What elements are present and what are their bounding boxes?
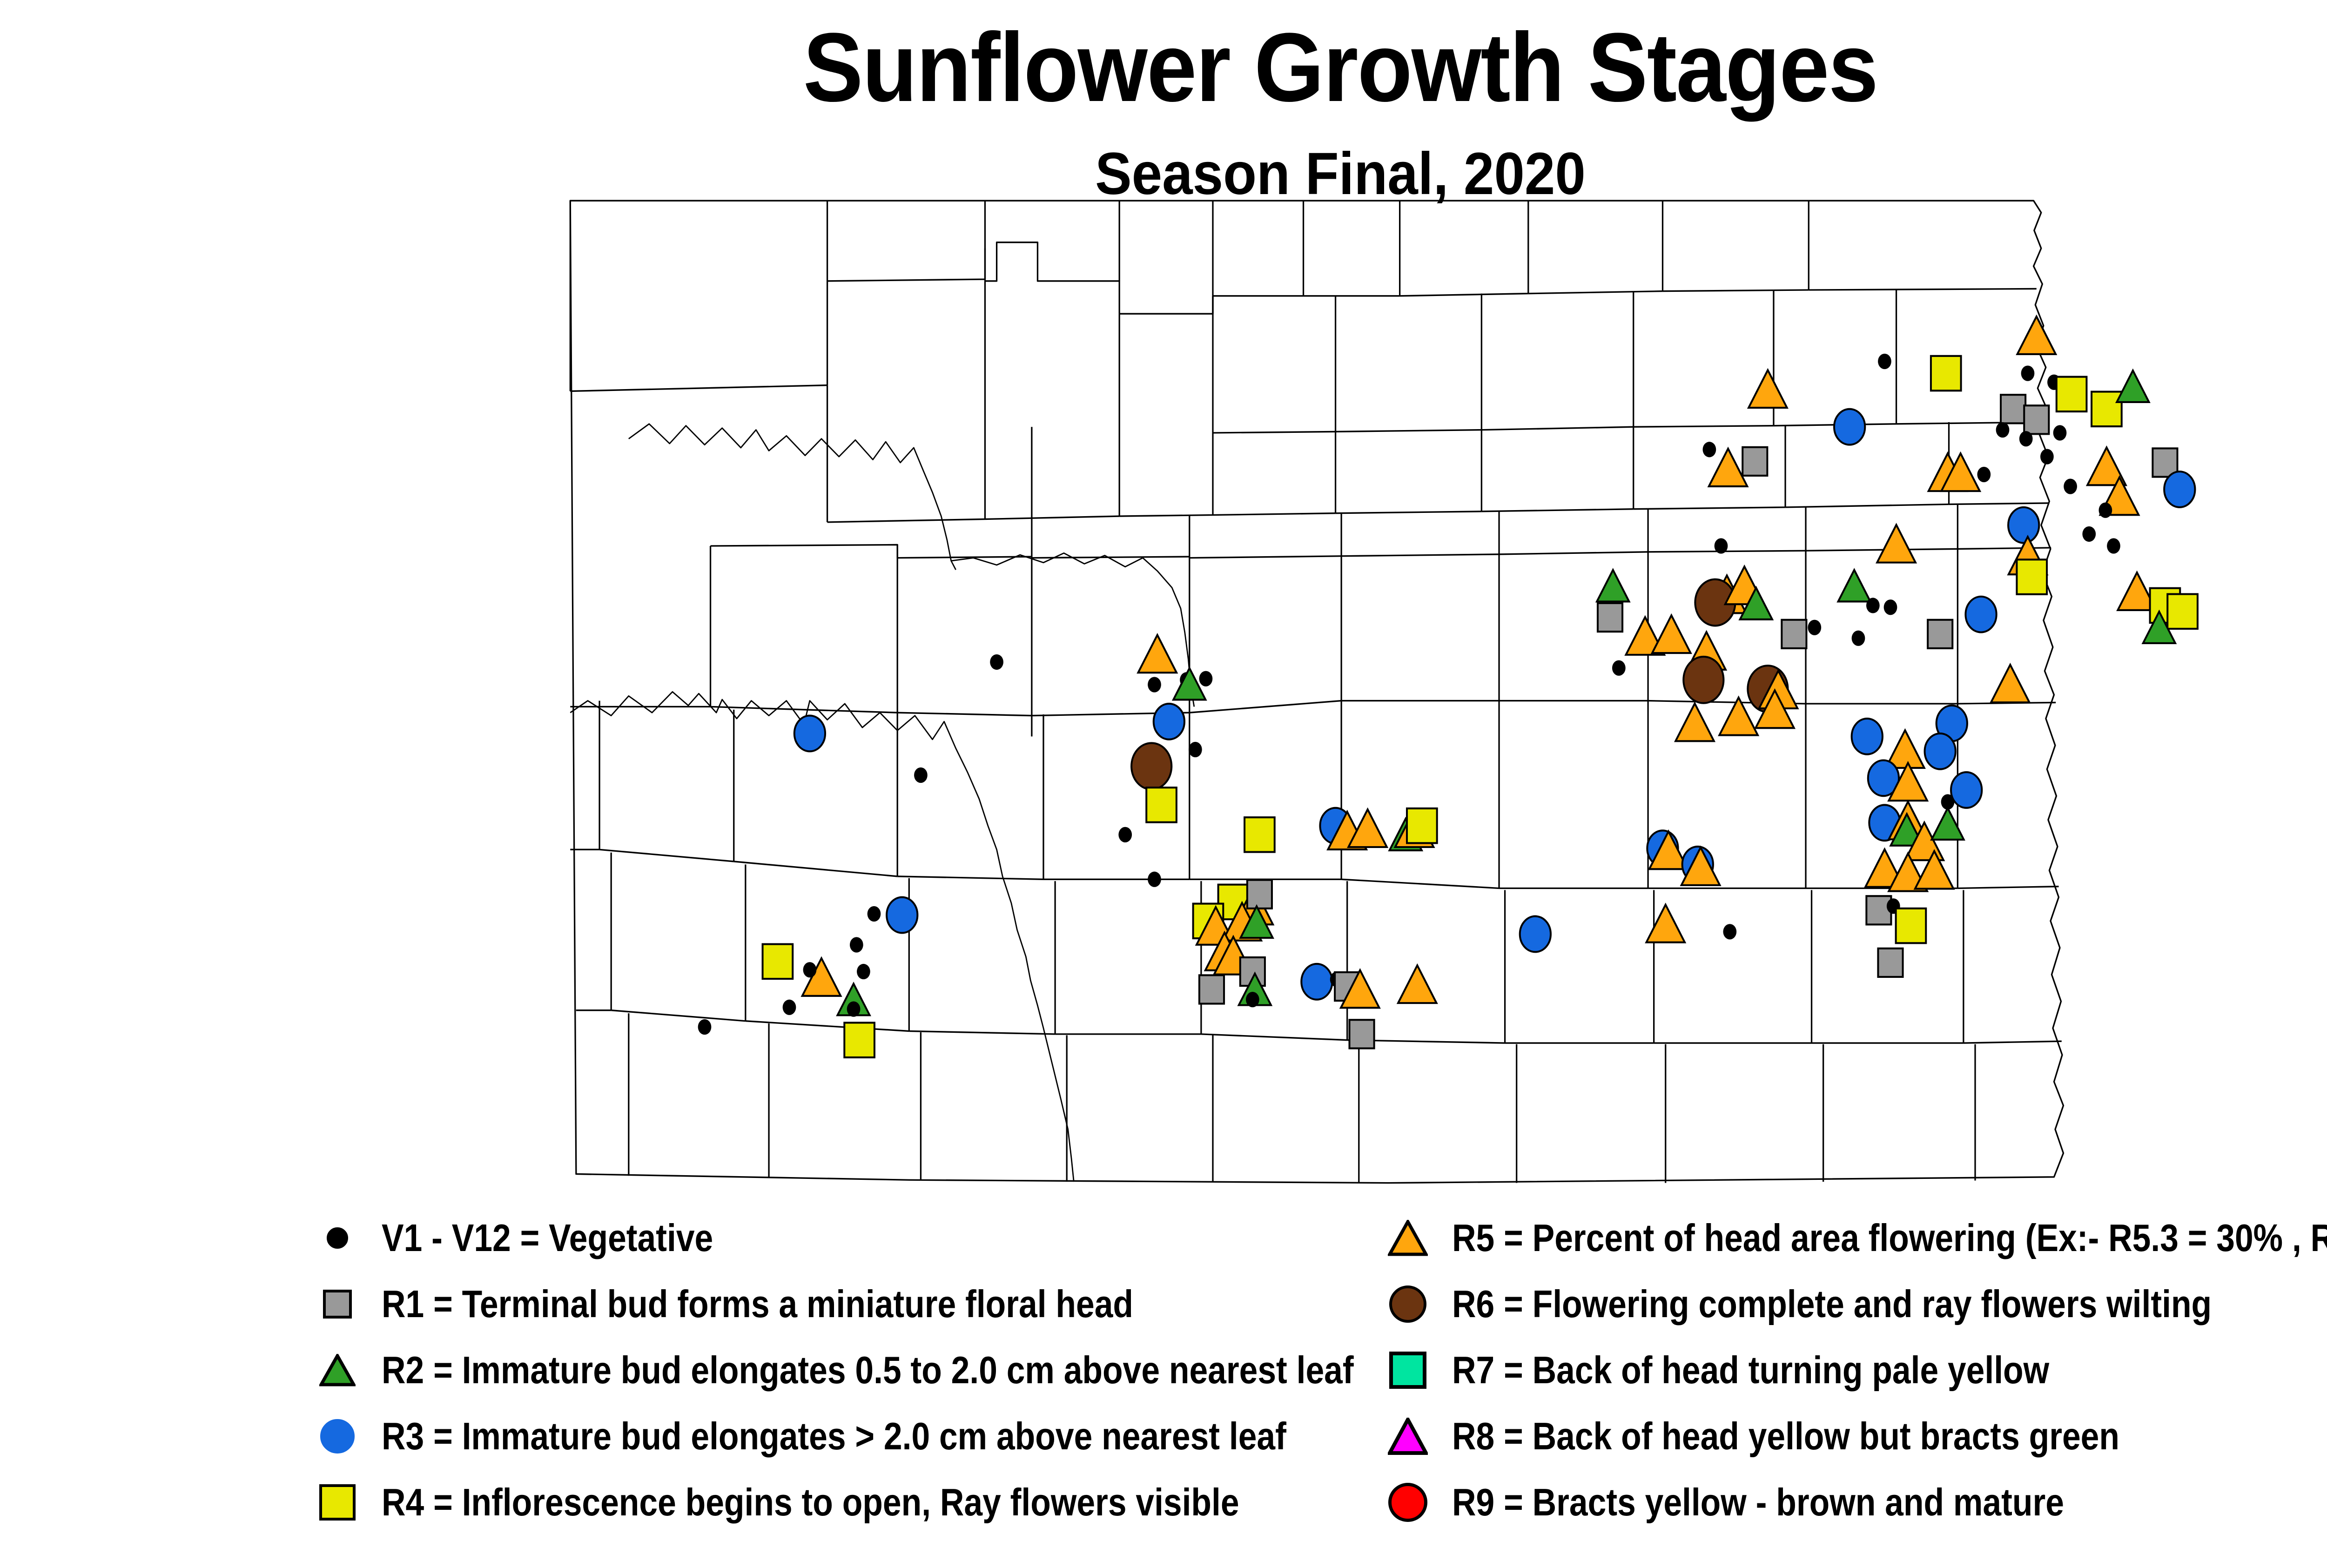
- map-marker-v[interactable]: [2053, 425, 2067, 440]
- map-marker-r2[interactable]: [1597, 570, 1629, 602]
- map-marker-r4[interactable]: [1244, 817, 1275, 852]
- map-marker-r4[interactable]: [2057, 377, 2087, 411]
- map-marker-r1[interactable]: [1598, 603, 1622, 632]
- map-marker-v[interactable]: [2082, 526, 2096, 542]
- map-marker-r3[interactable]: [1834, 409, 1865, 445]
- map-marker-v[interactable]: [857, 964, 870, 979]
- county-boundaries: [570, 201, 2063, 1183]
- map-marker-v[interactable]: [990, 654, 1003, 670]
- map-marker-r2[interactable]: [1838, 570, 1870, 602]
- map-marker-r6[interactable]: [1131, 743, 1171, 789]
- map-marker-r4[interactable]: [1407, 808, 1437, 843]
- map-marker-v[interactable]: [2040, 449, 2054, 464]
- map-marker-r1[interactable]: [1350, 1020, 1374, 1048]
- legend-label-r5: R5 = Percent of head area flowering (Ex:…: [1452, 1210, 2327, 1266]
- map-marker-v[interactable]: [1996, 422, 2010, 437]
- map-marker-r4[interactable]: [1931, 356, 1961, 390]
- legend-square-marker-r4: [307, 1474, 368, 1530]
- map-marker-r1[interactable]: [1782, 620, 1806, 648]
- map-marker-r4[interactable]: [2167, 594, 2198, 628]
- legend-label-r8: R8 = Back of head yellow but bracts gree…: [1452, 1408, 2119, 1464]
- map-marker-r5[interactable]: [1647, 905, 1685, 942]
- map-marker-v[interactable]: [803, 962, 817, 977]
- map-marker-r1[interactable]: [1247, 880, 1272, 908]
- triangle-icon: [319, 1354, 356, 1386]
- legend-label-r7: R7 = Back of head turning pale yellow: [1452, 1342, 2049, 1398]
- map-marker-v[interactable]: [1884, 599, 1897, 615]
- map-marker-r3[interactable]: [1951, 772, 1982, 808]
- map-marker-v[interactable]: [1118, 827, 1132, 842]
- legend-circle-marker-v: [307, 1210, 368, 1266]
- map-marker-v[interactable]: [1866, 598, 1880, 613]
- map-marker-v[interactable]: [1148, 677, 1161, 692]
- data-point-markers[interactable]: [698, 316, 2198, 1057]
- map-marker-v[interactable]: [1148, 872, 1161, 887]
- map-marker-v[interactable]: [1977, 467, 1991, 482]
- map-marker-r3[interactable]: [1965, 597, 1996, 633]
- map-marker-r1[interactable]: [1878, 949, 1903, 977]
- legend-triangle-marker-r5: [1378, 1210, 1438, 1266]
- triangle-icon: [1388, 1220, 1428, 1256]
- map-marker-v[interactable]: [1852, 631, 1865, 646]
- legend-item-r5[interactable]: R5 = Percent of head area flowering (Ex:…: [1378, 1210, 2327, 1276]
- map-marker-r3[interactable]: [1154, 704, 1184, 740]
- legend-circle-marker-r3: [307, 1408, 368, 1464]
- legend-item-r3[interactable]: R3 = Immature bud elongates > 2.0 cm abo…: [307, 1408, 1378, 1474]
- legend-circle-marker-r6: [1378, 1276, 1438, 1332]
- map-marker-r1[interactable]: [1199, 975, 1224, 1003]
- map-marker-r5[interactable]: [1675, 703, 1714, 741]
- map-marker-v[interactable]: [2099, 503, 2112, 518]
- map-marker-r3[interactable]: [1925, 734, 1956, 769]
- north-dakota-county-map[interactable]: [535, 177, 2229, 1201]
- legend-label-r3: R3 = Immature bud elongates > 2.0 cm abo…: [382, 1408, 1286, 1464]
- map-marker-r6[interactable]: [1683, 657, 1723, 703]
- map-marker-v[interactable]: [1703, 442, 1716, 457]
- map-marker-v[interactable]: [1878, 354, 1891, 369]
- map-marker-r3[interactable]: [1852, 719, 1883, 754]
- map-marker-r4[interactable]: [844, 1023, 874, 1057]
- map-marker-r5[interactable]: [2018, 316, 2056, 354]
- map-marker-v[interactable]: [1189, 742, 1202, 757]
- map-marker-v[interactable]: [850, 937, 863, 952]
- triangle-icon: [1388, 1418, 1428, 1455]
- map-marker-r3[interactable]: [887, 897, 917, 933]
- map-marker-r2[interactable]: [1931, 808, 1964, 840]
- legend-square-marker-r7: [1378, 1342, 1438, 1398]
- map-marker-v[interactable]: [1612, 660, 1626, 676]
- map-marker-r3[interactable]: [1520, 916, 1551, 952]
- legend-circle-marker-r9: [1378, 1474, 1438, 1530]
- legend-column-left: V1 - V12 = Vegetative R1 = Terminal bud …: [307, 1210, 1378, 1541]
- map-marker-r5[interactable]: [1991, 665, 2029, 702]
- map-marker-r1[interactable]: [1928, 620, 1952, 648]
- legend-label-r9: R9 = Bracts yellow - brown and mature: [1452, 1474, 2064, 1530]
- map-marker-r3[interactable]: [794, 716, 825, 752]
- map-marker-v[interactable]: [2021, 365, 2035, 381]
- map-marker-r5[interactable]: [1138, 635, 1177, 673]
- map-marker-v[interactable]: [1715, 538, 1728, 553]
- map-marker-v[interactable]: [1199, 671, 1213, 686]
- map-marker-r5[interactable]: [1709, 449, 1747, 486]
- legend-item-v[interactable]: V1 - V12 = Vegetative: [307, 1210, 1378, 1276]
- map-marker-r4[interactable]: [1146, 787, 1177, 822]
- map-marker-r4[interactable]: [763, 944, 793, 979]
- legend-item-r9[interactable]: R9 = Bracts yellow - brown and mature: [1378, 1474, 2327, 1541]
- legend-label-r1: R1 = Terminal bud forms a miniature flor…: [382, 1276, 1133, 1332]
- legend-label-r6: R6 = Flowering complete and ray flowers …: [1452, 1276, 2212, 1332]
- map-marker-v[interactable]: [1723, 924, 1736, 939]
- legend-item-r7[interactable]: R7 = Back of head turning pale yellow: [1378, 1342, 2327, 1408]
- map-marker-r1[interactable]: [1866, 896, 1891, 924]
- legend-square-marker-r1: [307, 1276, 368, 1332]
- map-marker-v[interactable]: [868, 906, 881, 922]
- legend-triangle-marker-r8: [1378, 1408, 1438, 1464]
- legend-item-r2[interactable]: R2 = Immature bud elongates 0.5 to 2.0 c…: [307, 1342, 1378, 1408]
- legend-label-r2: R2 = Immature bud elongates 0.5 to 2.0 c…: [382, 1342, 1354, 1398]
- map-marker-r3[interactable]: [2164, 471, 2195, 507]
- page-title: Sunflower Growth Stages: [107, 19, 2327, 116]
- map-marker-r4[interactable]: [1896, 908, 1926, 943]
- map-marker-v[interactable]: [914, 767, 928, 783]
- map-marker-r3[interactable]: [2008, 507, 2039, 543]
- map-marker-v[interactable]: [847, 1002, 861, 1017]
- legend-column-right: R5 = Percent of head area flowering (Ex:…: [1378, 1210, 2327, 1541]
- legend-triangle-marker-r2: [307, 1342, 368, 1398]
- map-marker-v[interactable]: [698, 1019, 712, 1035]
- map-marker-v[interactable]: [1808, 620, 1821, 635]
- map-svg: [535, 177, 2229, 1201]
- legend-item-r8[interactable]: R8 = Back of head yellow but bracts gree…: [1378, 1408, 2327, 1474]
- map-marker-r4[interactable]: [2092, 392, 2122, 426]
- legend: V1 - V12 = Vegetative R1 = Terminal bud …: [0, 1210, 2327, 1536]
- map-marker-r5[interactable]: [1877, 525, 1915, 563]
- map-marker-r5[interactable]: [1398, 965, 1436, 1003]
- map-marker-r5[interactable]: [1652, 615, 1690, 653]
- legend-label-v: V1 - V12 = Vegetative: [382, 1210, 713, 1266]
- map-marker-r3[interactable]: [1301, 964, 1332, 1000]
- map-marker-r1[interactable]: [2001, 395, 2025, 423]
- legend-item-r6[interactable]: R6 = Flowering complete and ray flowers …: [1378, 1276, 2327, 1342]
- map-marker-r1[interactable]: [2024, 405, 2049, 434]
- map-marker-v[interactable]: [2019, 431, 2033, 446]
- legend-item-r1[interactable]: R1 = Terminal bud forms a miniature flor…: [307, 1276, 1378, 1342]
- map-marker-v[interactable]: [1246, 992, 1259, 1007]
- legend-label-r4: R4 = Inflorescence begins to open, Ray f…: [382, 1474, 1239, 1530]
- map-marker-r2[interactable]: [1173, 668, 1205, 700]
- map-marker-v[interactable]: [2064, 478, 2077, 494]
- map-marker-r1[interactable]: [1742, 447, 1767, 476]
- map-marker-r4[interactable]: [2017, 559, 2047, 594]
- map-marker-r2[interactable]: [2117, 370, 2149, 402]
- map-marker-v[interactable]: [783, 1000, 796, 1015]
- map-marker-r5[interactable]: [1749, 370, 1787, 408]
- map-marker-v[interactable]: [2107, 538, 2120, 553]
- legend-item-r4[interactable]: R4 = Inflorescence begins to open, Ray f…: [307, 1474, 1378, 1541]
